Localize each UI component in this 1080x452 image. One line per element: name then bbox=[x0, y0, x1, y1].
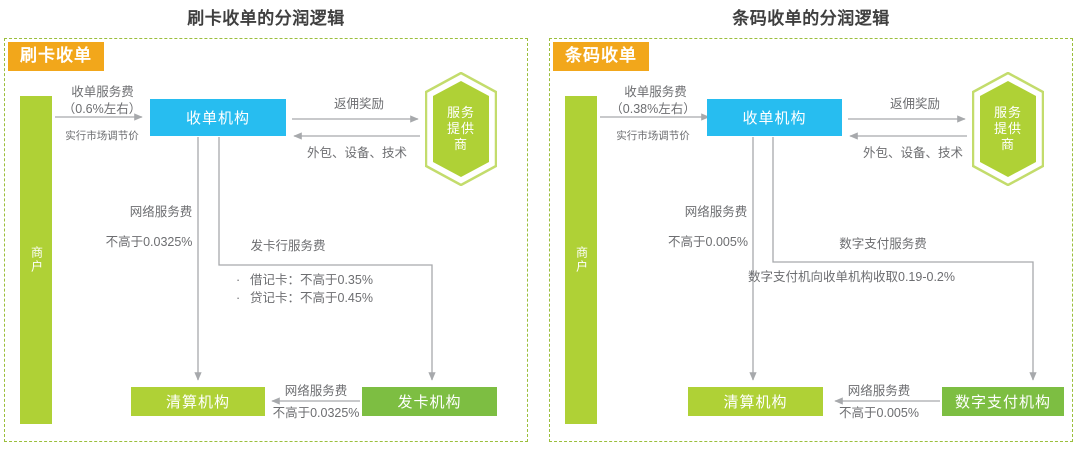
hexagon-shape bbox=[972, 72, 1044, 186]
network-fee-title: 网络服务费 bbox=[673, 204, 759, 220]
merchant-fee-value: （0.38%左右） bbox=[597, 101, 709, 117]
bottom-fee-title: 网络服务费 bbox=[836, 383, 922, 399]
issuer-fee-bullets: ·借记卡：不高于0.35% ·贷记卡：不高于0.45% bbox=[236, 271, 373, 307]
merchant-fee-title: 收单服务费 bbox=[603, 84, 708, 100]
bottom-fee-value: 不高于0.005% bbox=[829, 405, 929, 421]
clearing-label: 清算机构 bbox=[166, 391, 230, 412]
merchant-fee-value: （0.6%左右） bbox=[52, 101, 152, 117]
clearing-box: 清算机构 bbox=[131, 387, 265, 416]
bullet-dot-icon: · bbox=[236, 271, 250, 289]
list-item: ·贷记卡：不高于0.45% bbox=[236, 289, 373, 307]
merchant-label: 商户 bbox=[574, 246, 589, 274]
issuer-box: 发卡机构 bbox=[362, 387, 497, 416]
panel-card-acquiring: 刷卡收单的分润逻辑 刷卡收单 bbox=[0, 0, 532, 452]
merchant-fee-title: 收单服务费 bbox=[55, 84, 150, 100]
issuer-label: 发卡机构 bbox=[397, 391, 461, 412]
issuer-fee-note: 数字支付机向收单机构收取0.19-0.2% bbox=[748, 269, 955, 285]
panel-title: 条码收单的分润逻辑 bbox=[545, 4, 1077, 29]
diagram-canvas: 刷卡收单的分润逻辑 刷卡收单 bbox=[0, 0, 1080, 452]
service-provider-node: 服务 提供 商 bbox=[425, 72, 497, 186]
bottom-fee-value: 不高于0.0325% bbox=[264, 405, 368, 421]
network-fee-value: 不高于0.0325% bbox=[97, 234, 201, 250]
network-fee-value: 不高于0.005% bbox=[658, 234, 758, 250]
merchant-column: 商户 bbox=[20, 96, 52, 424]
issuer-fee-title: 发卡行服务费 bbox=[234, 238, 342, 254]
acquirer-label: 收单机构 bbox=[742, 107, 806, 128]
panel-badge: 刷卡收单 bbox=[8, 42, 104, 71]
provider-inbound-label: 外包、设备、技术 bbox=[287, 145, 427, 161]
bullet-dot-icon: · bbox=[236, 289, 250, 307]
provider-outbound-label: 返佣奖励 bbox=[856, 96, 974, 112]
clearing-box: 清算机构 bbox=[688, 387, 823, 416]
network-fee-title: 网络服务费 bbox=[118, 204, 204, 220]
bottom-fee-title: 网络服务费 bbox=[273, 383, 359, 399]
acquirer-box: 收单机构 bbox=[707, 99, 842, 136]
provider-outbound-label: 返佣奖励 bbox=[300, 96, 418, 112]
merchant-label: 商户 bbox=[29, 246, 44, 274]
acquirer-box: 收单机构 bbox=[150, 99, 286, 136]
merchant-fee-note: 实行市场调节价 bbox=[52, 130, 152, 144]
panel-barcode-acquiring: 条码收单的分润逻辑 条码收单 商户 bbox=[545, 0, 1077, 452]
issuer-bullet-credit: 贷记卡：不高于0.45% bbox=[250, 291, 373, 305]
merchant-fee-note: 实行市场调节价 bbox=[599, 130, 707, 144]
list-item: ·借记卡：不高于0.35% bbox=[236, 271, 373, 289]
digital-payment-box: 数字支付机构 bbox=[942, 387, 1064, 416]
digital-payment-label: 数字支付机构 bbox=[955, 391, 1051, 412]
service-provider-node: 服务 提供 商 bbox=[972, 72, 1044, 186]
hexagon-shape bbox=[425, 72, 497, 186]
issuer-bullet-debit: 借记卡：不高于0.35% bbox=[250, 273, 373, 287]
clearing-label: 清算机构 bbox=[723, 391, 787, 412]
issuer-fee-title: 数字支付服务费 bbox=[819, 236, 947, 252]
acquirer-label: 收单机构 bbox=[186, 107, 250, 128]
panel-title: 刷卡收单的分润逻辑 bbox=[0, 4, 532, 29]
panel-badge: 条码收单 bbox=[553, 42, 649, 71]
provider-inbound-label: 外包、设备、技术 bbox=[843, 145, 983, 161]
merchant-column: 商户 bbox=[565, 96, 597, 424]
